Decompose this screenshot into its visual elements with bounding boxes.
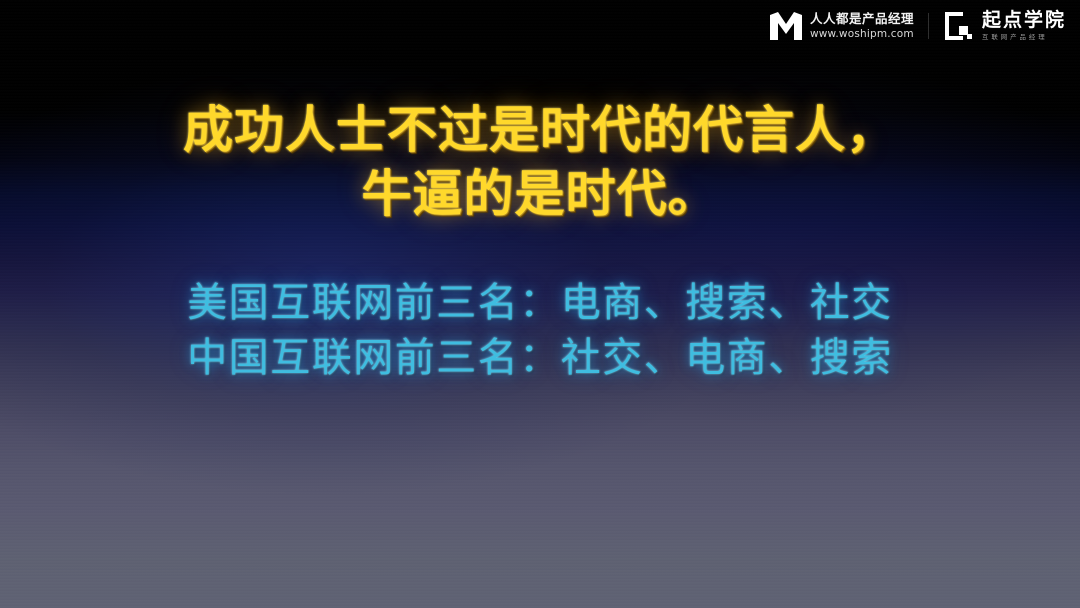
body-line-us-ranking: 美国互联网前三名：电商、搜索、社交 xyxy=(0,276,1080,331)
body-block: 美国互联网前三名：电商、搜索、社交 中国互联网前三名：社交、电商、搜索 xyxy=(0,276,1080,386)
qidian-brand[interactable]: 起点学院 互联网产品经理 xyxy=(943,10,1066,42)
woshipm-m-logo-icon xyxy=(769,11,803,41)
headline-line-1: 成功人士不过是时代的代言人， xyxy=(0,98,1080,162)
headline-block: 成功人士不过是时代的代言人， 牛逼的是时代。 xyxy=(0,98,1080,226)
qidian-brand-text: 起点学院 互联网产品经理 xyxy=(982,11,1066,41)
qidian-brand-name: 起点学院 xyxy=(982,11,1066,30)
woshipm-brand-text: 人人都是产品经理 www.woshipm.com xyxy=(810,13,914,39)
body-line-china-ranking: 中国互联网前三名：社交、电商、搜索 xyxy=(0,331,1080,386)
branding-bar: 人人都是产品经理 www.woshipm.com 起点学院 互联网产品经理 xyxy=(769,10,1066,42)
headline-line-2: 牛逼的是时代。 xyxy=(0,162,1080,226)
qidian-bracket-logo-icon xyxy=(943,10,975,42)
qidian-brand-subtitle: 互联网产品经理 xyxy=(982,34,1059,40)
branding-divider xyxy=(928,13,929,39)
woshipm-brand-name: 人人都是产品经理 xyxy=(810,13,914,26)
woshipm-brand[interactable]: 人人都是产品经理 www.woshipm.com xyxy=(769,11,914,41)
woshipm-brand-url: www.woshipm.com xyxy=(810,29,914,40)
slide-canvas: 人人都是产品经理 www.woshipm.com 起点学院 互联网产品经理 成功… xyxy=(0,0,1080,608)
